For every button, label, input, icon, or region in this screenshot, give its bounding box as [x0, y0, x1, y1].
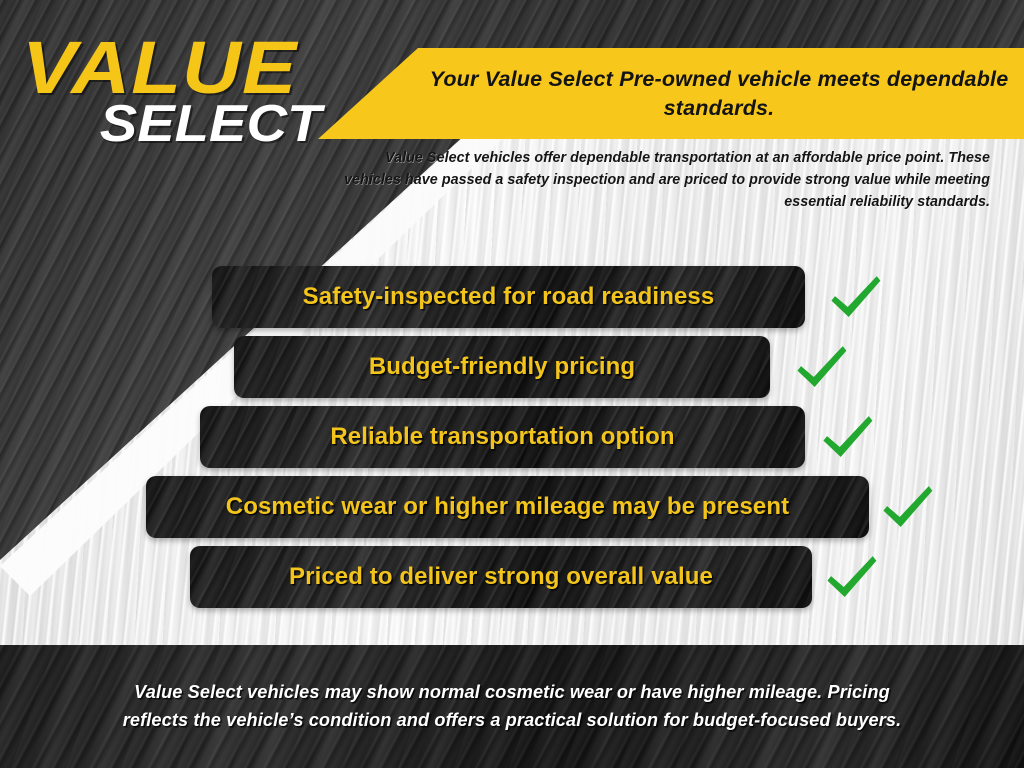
- feature-bar-label: Budget-friendly pricing: [369, 353, 635, 381]
- feature-bar[interactable]: Reliable transportation option: [200, 406, 805, 468]
- check-mark-icon: [792, 338, 850, 396]
- feature-row: Priced to deliver strong overall value: [0, 542, 1024, 612]
- intro-paragraph: Value Select vehicles offer dependable t…: [330, 148, 990, 214]
- value-select-infographic: VALUE SELECT Your Value Select Pre-owned…: [0, 0, 1024, 768]
- check-mark-icon: [792, 338, 850, 396]
- headline-banner: Your Value Select Pre-owned vehicle meet…: [318, 48, 1024, 139]
- brand-logo-select: SELECT: [22, 102, 357, 147]
- feature-bar[interactable]: Cosmetic wear or higher mileage may be p…: [146, 476, 869, 538]
- check-mark-icon: [826, 268, 884, 326]
- brand-logo: VALUE SELECT: [22, 36, 332, 146]
- feature-bar-label: Reliable transportation option: [330, 423, 674, 451]
- feature-bar-label: Cosmetic wear or higher mileage may be p…: [226, 493, 789, 521]
- feature-bar-label: Safety-inspected for road readiness: [303, 283, 715, 311]
- check-mark-icon: [822, 548, 880, 606]
- feature-bar[interactable]: Safety-inspected for road readiness: [212, 266, 805, 328]
- feature-bar[interactable]: Priced to deliver strong overall value: [190, 546, 812, 608]
- feature-bar-label: Priced to deliver strong overall value: [289, 563, 713, 591]
- feature-row: Reliable transportation option: [0, 402, 1024, 472]
- feature-row: Cosmetic wear or higher mileage may be p…: [0, 472, 1024, 542]
- footer-disclaimer: Value Select vehicles may show normal co…: [0, 645, 1024, 768]
- feature-list: Safety-inspected for road readinessBudge…: [0, 262, 1024, 612]
- feature-bar[interactable]: Budget-friendly pricing: [234, 336, 770, 398]
- footer-text: Value Select vehicles may show normal co…: [102, 679, 922, 734]
- check-mark-icon: [822, 548, 880, 606]
- check-mark-icon: [878, 478, 936, 536]
- feature-row: Safety-inspected for road readiness: [0, 262, 1024, 332]
- check-mark-icon: [818, 408, 876, 466]
- feature-row: Budget-friendly pricing: [0, 332, 1024, 402]
- check-mark-icon: [818, 408, 876, 466]
- brand-logo-value: VALUE: [22, 36, 363, 100]
- check-mark-icon: [878, 478, 936, 536]
- check-mark-icon: [826, 268, 884, 326]
- headline-text: Your Value Select Pre-owned vehicle meet…: [429, 65, 1009, 122]
